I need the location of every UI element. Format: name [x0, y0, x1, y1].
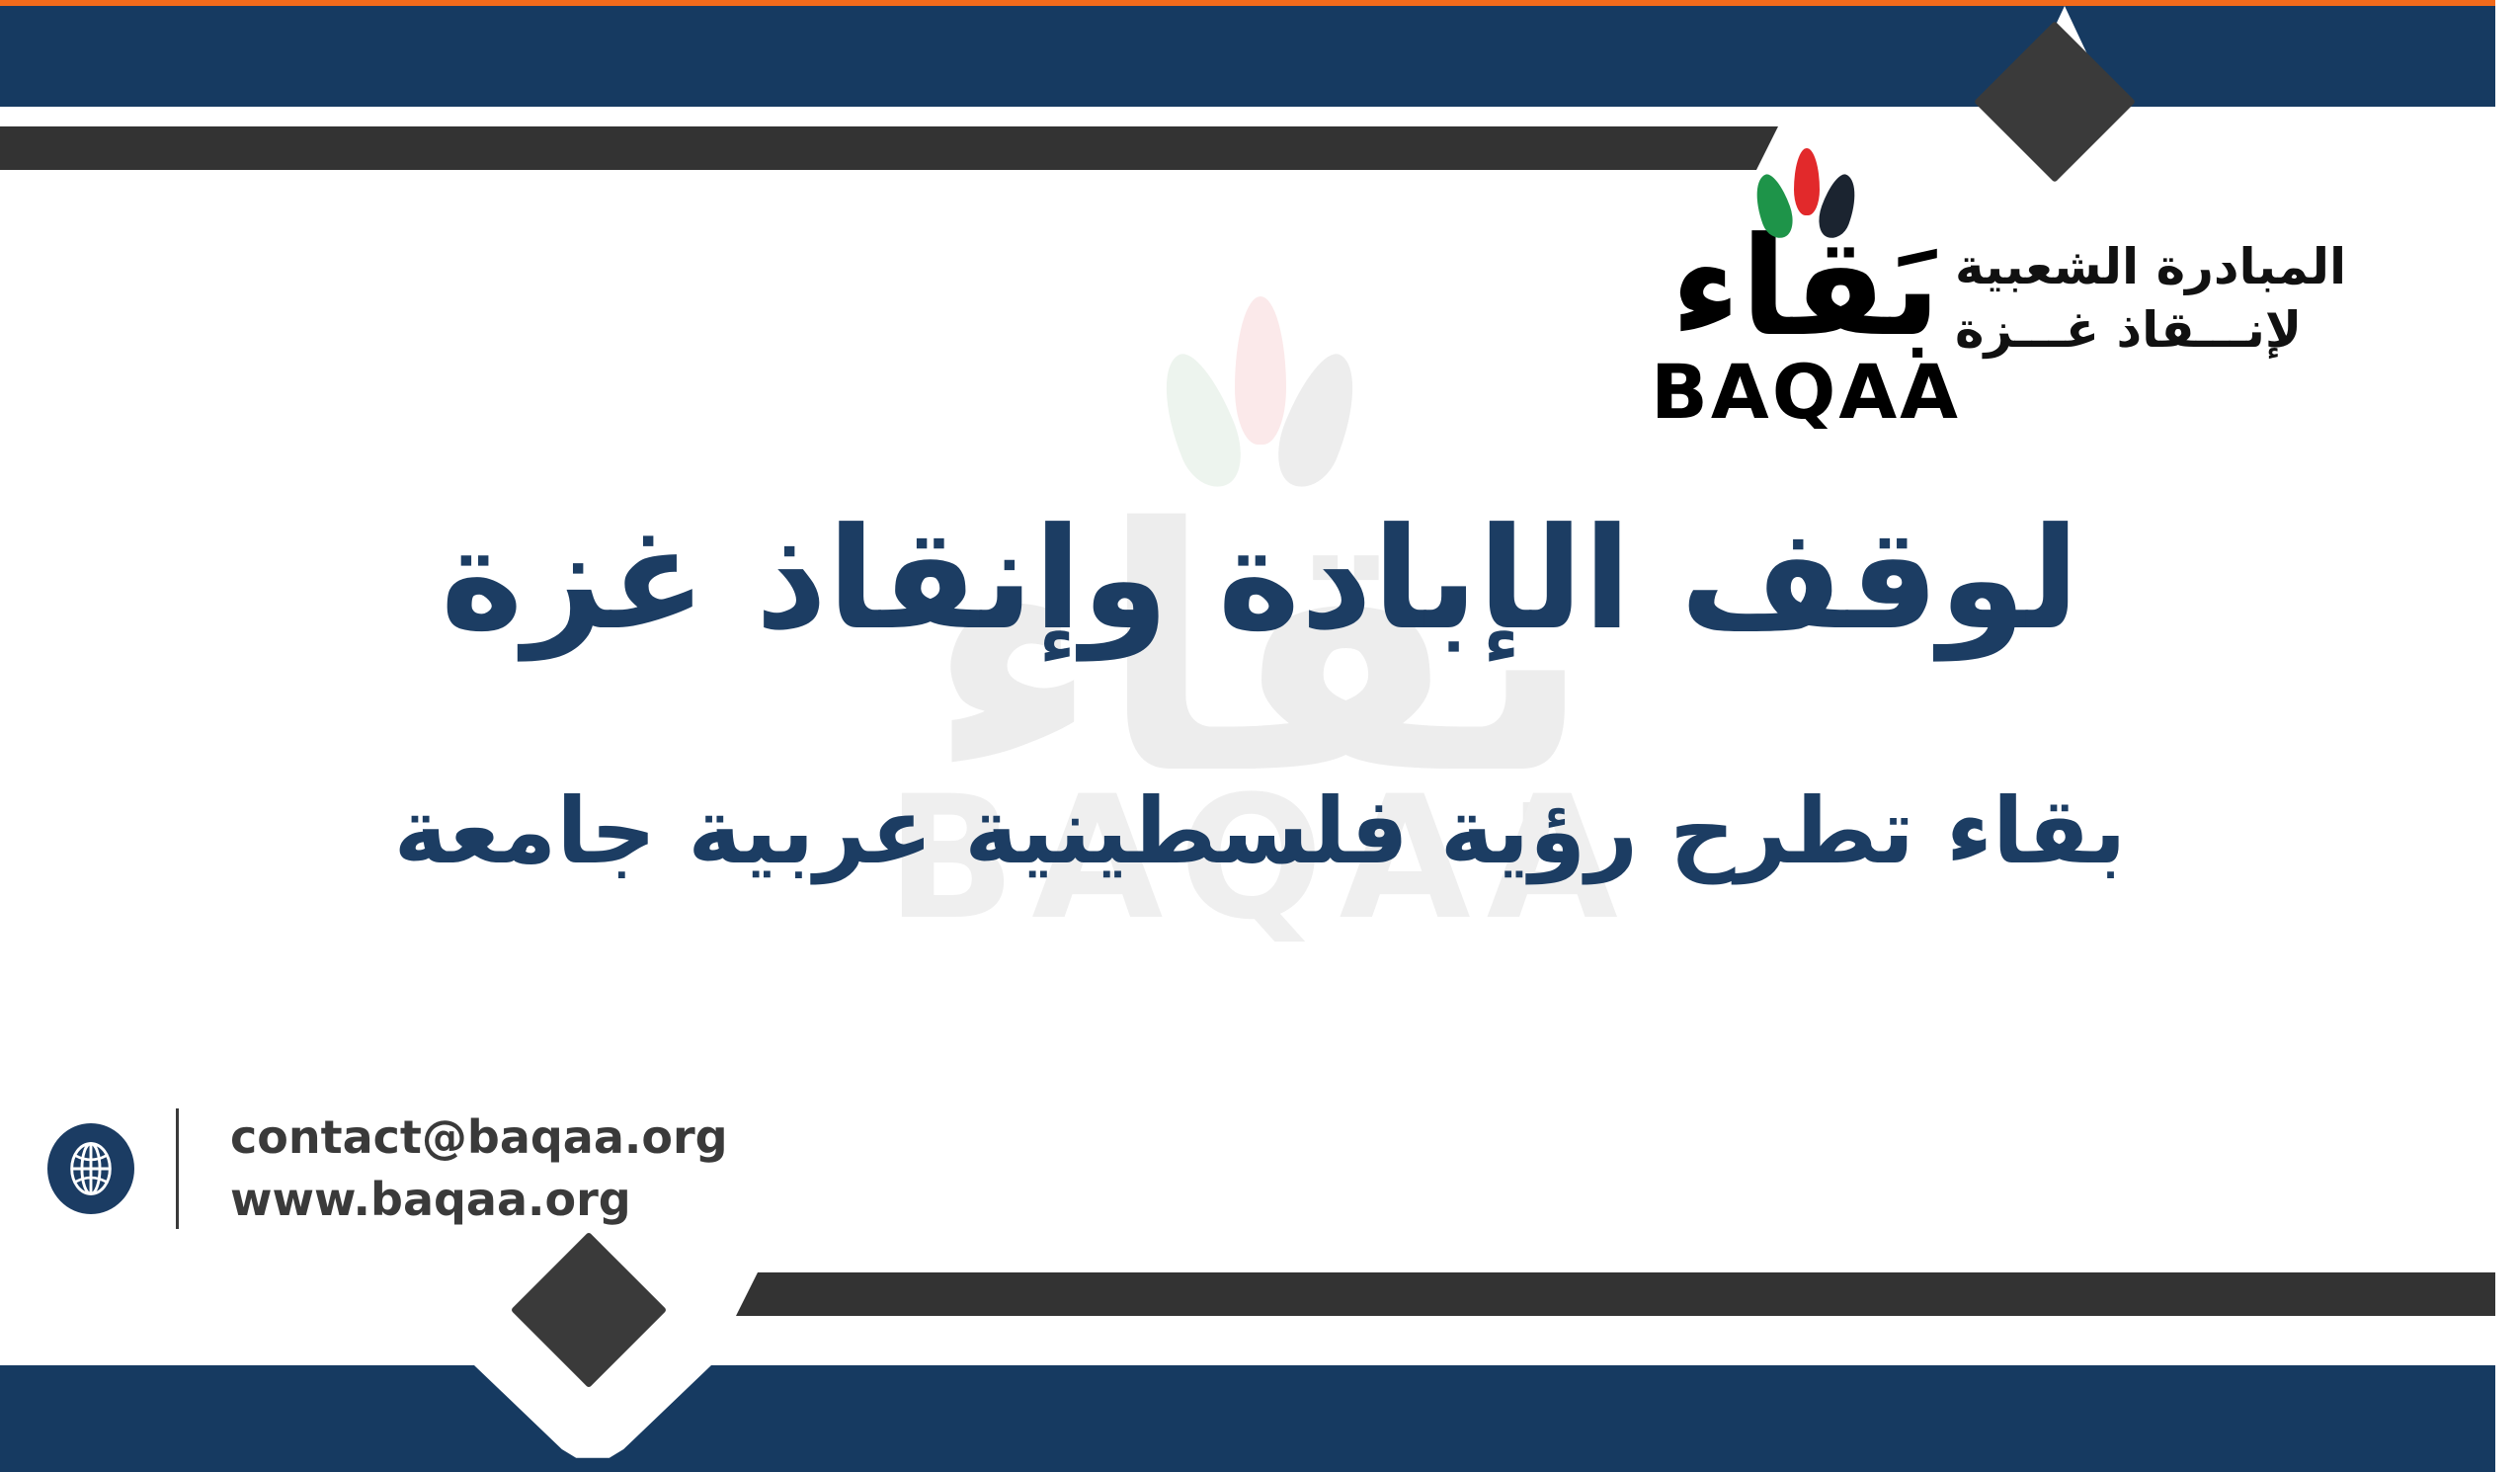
- contact-website[interactable]: www.baqaa.org: [230, 1174, 728, 1226]
- watermark-petal-center: [1235, 296, 1286, 445]
- page-title: لوقف الإبادة وإنقاذ غزة: [0, 492, 2520, 668]
- brand-logo[interactable]: بَقاء BAQAA المبادرة الشعبية لإنـــقاذ غ…: [1682, 148, 2453, 430]
- contact-divider: [176, 1108, 179, 1229]
- tulip-flame-icon: [1732, 148, 1880, 235]
- watermark-petal-left: [1146, 345, 1255, 496]
- bottom-dark-gray-rule: [736, 1272, 2495, 1316]
- page-subtitle: بقاء تطرح رؤية فلسطينية عربية جامعة: [0, 773, 2520, 891]
- petal-green-icon: [1748, 171, 1800, 243]
- brand-latin-wordmark: BAQAA: [1651, 355, 1961, 430]
- bottom-navy-band: [0, 1365, 2495, 1472]
- contact-block: contact@baqaa.org www.baqaa.org: [47, 1108, 728, 1229]
- poster-canvas: بقاء BAQAA بَقاء BAQAA المبادرة الشعبية …: [0, 0, 2520, 1472]
- brand-tagline-line-1: المبادرة الشعبية: [1955, 235, 2346, 298]
- brand-logo-mark: بَقاء BAQAA: [1682, 148, 1929, 430]
- brand-tagline: المبادرة الشعبية لإنـــقاذ غـــزة: [1955, 235, 2346, 362]
- watermark-petal-right: [1264, 345, 1373, 496]
- watermark-tulip-flame-icon: [1132, 296, 1389, 524]
- petal-red-icon: [1794, 148, 1820, 215]
- contact-email[interactable]: contact@baqaa.org: [230, 1111, 728, 1164]
- brand-arabic-wordmark: بَقاء: [1670, 225, 1941, 351]
- petal-dark-icon: [1813, 171, 1865, 243]
- brand-logo-row: بَقاء BAQAA المبادرة الشعبية لإنـــقاذ غ…: [1682, 148, 2346, 430]
- top-dark-gray-rule: [0, 126, 1778, 170]
- globe-icon: [47, 1123, 134, 1214]
- brand-tagline-line-2: لإنـــقاذ غـــزة: [1955, 298, 2302, 362]
- contact-lines: contact@baqaa.org www.baqaa.org: [230, 1111, 728, 1226]
